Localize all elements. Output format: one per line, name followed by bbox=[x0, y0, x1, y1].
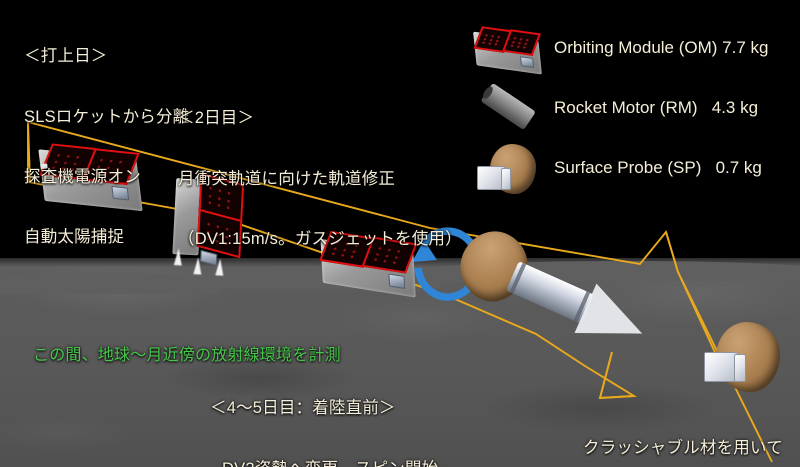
component-legend: Orbiting Module (OM) 7.7 kg Rocket Motor… bbox=[466, 18, 796, 198]
launch-day-line-1: SLSロケットから分離 bbox=[24, 107, 189, 127]
day45-heading: ＜4～5日目：着陸直前＞ bbox=[210, 398, 491, 418]
rocket-motor-icon bbox=[474, 75, 543, 139]
day2-line-2: （DV1:15m/s。ガスジェットを使用） bbox=[178, 229, 462, 249]
annotation-day4-5: ＜4～5日目：着陸直前＞ DV2姿勢へ変更。スピン開始。 固体ロケットで減速(D… bbox=[210, 358, 491, 467]
annotation-day2: ＜2日目＞ 月衝突軌道に向けた軌道修正 （DV1:15m/s。ガスジェットを使用… bbox=[178, 68, 462, 289]
cubesat-camera-lens bbox=[520, 56, 534, 68]
legend-row-om: Orbiting Module (OM) 7.7 kg bbox=[466, 18, 796, 78]
legend-label-sp: Surface Probe (SP) 0.7 kg bbox=[554, 158, 762, 178]
surface-probe-side-panel bbox=[734, 354, 746, 382]
annotation-crushable-material: クラッシャブル材を用いて 着地衝撃吸収 bbox=[583, 398, 783, 467]
day2-heading: ＜2日目＞ bbox=[178, 108, 462, 128]
day45-line-1: DV2姿勢へ変更。スピン開始。 bbox=[222, 459, 491, 467]
surface-probe-icon bbox=[474, 142, 546, 196]
surface-probe-side-panel bbox=[501, 168, 511, 190]
launch-day-line-2: 探査機電源オン bbox=[24, 167, 189, 187]
orbiting-module-icon bbox=[470, 20, 547, 75]
surface-probe-box bbox=[704, 352, 738, 382]
launch-day-line-3: 自動太陽捕捉 bbox=[24, 227, 189, 247]
legend-label-om: Orbiting Module (OM) 7.7 kg bbox=[554, 38, 768, 58]
crushable-line-1: クラッシャブル材を用いて bbox=[583, 438, 783, 458]
legend-row-rm: Rocket Motor (RM) 4.3 kg bbox=[466, 78, 796, 138]
landed-surface-probe bbox=[700, 320, 796, 398]
annotation-launch-day: ＜打上日＞ SLSロケットから分離 探査機電源オン 自動太陽捕捉 bbox=[24, 6, 189, 288]
legend-label-rm: Rocket Motor (RM) 4.3 kg bbox=[554, 98, 758, 118]
day2-line-1: 月衝突軌道に向けた軌道修正 bbox=[178, 169, 462, 189]
mission-diagram-canvas: ＜打上日＞ SLSロケットから分離 探査機電源オン 自動太陽捕捉 ＜2日目＞ 月… bbox=[0, 0, 800, 467]
launch-day-heading: ＜打上日＞ bbox=[24, 46, 189, 66]
legend-row-sp: Surface Probe (SP) 0.7 kg bbox=[466, 138, 796, 198]
